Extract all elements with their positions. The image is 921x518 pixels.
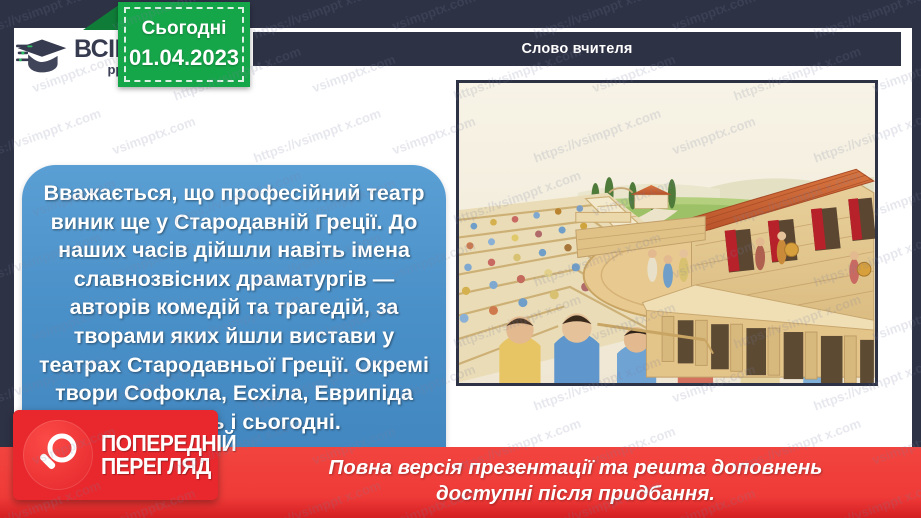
slide-header-bar: Слово вчителя bbox=[253, 32, 901, 66]
purchase-banner-line1: Повна версія презентації та решта доповн… bbox=[250, 455, 901, 481]
magnifier-icon bbox=[23, 420, 93, 490]
graduation-cap-icon bbox=[16, 36, 68, 76]
preview-badge: ПОПЕРЕДНІЙ ПЕРЕГЛЯД bbox=[13, 410, 218, 500]
theatre-illustration bbox=[456, 80, 878, 386]
purchase-banner-line2: доступні після придбання. bbox=[250, 481, 901, 507]
preview-badge-text: ПОПЕРЕДНІЙ ПЕРЕГЛЯД bbox=[101, 432, 236, 479]
purchase-banner-text: Повна версія презентації та решта доповн… bbox=[250, 455, 901, 507]
preview-badge-line1: ПОПЕРЕДНІЙ bbox=[101, 432, 236, 455]
date-badge-label: Сьогодні bbox=[142, 18, 227, 40]
page-title: Слово вчителя bbox=[521, 41, 632, 57]
preview-badge-line2: ПЕРЕГЛЯД bbox=[101, 455, 236, 478]
slide-canvas: Слово вчителя bbox=[0, 0, 921, 518]
date-ribbon-fold bbox=[83, 2, 123, 30]
date-badge-value: 01.04.2023 bbox=[129, 45, 239, 71]
date-badge: Сьогодні 01.04.2023 bbox=[118, 2, 250, 87]
lesson-paragraph: Вважається, що професійний театр виник щ… bbox=[36, 179, 432, 436]
